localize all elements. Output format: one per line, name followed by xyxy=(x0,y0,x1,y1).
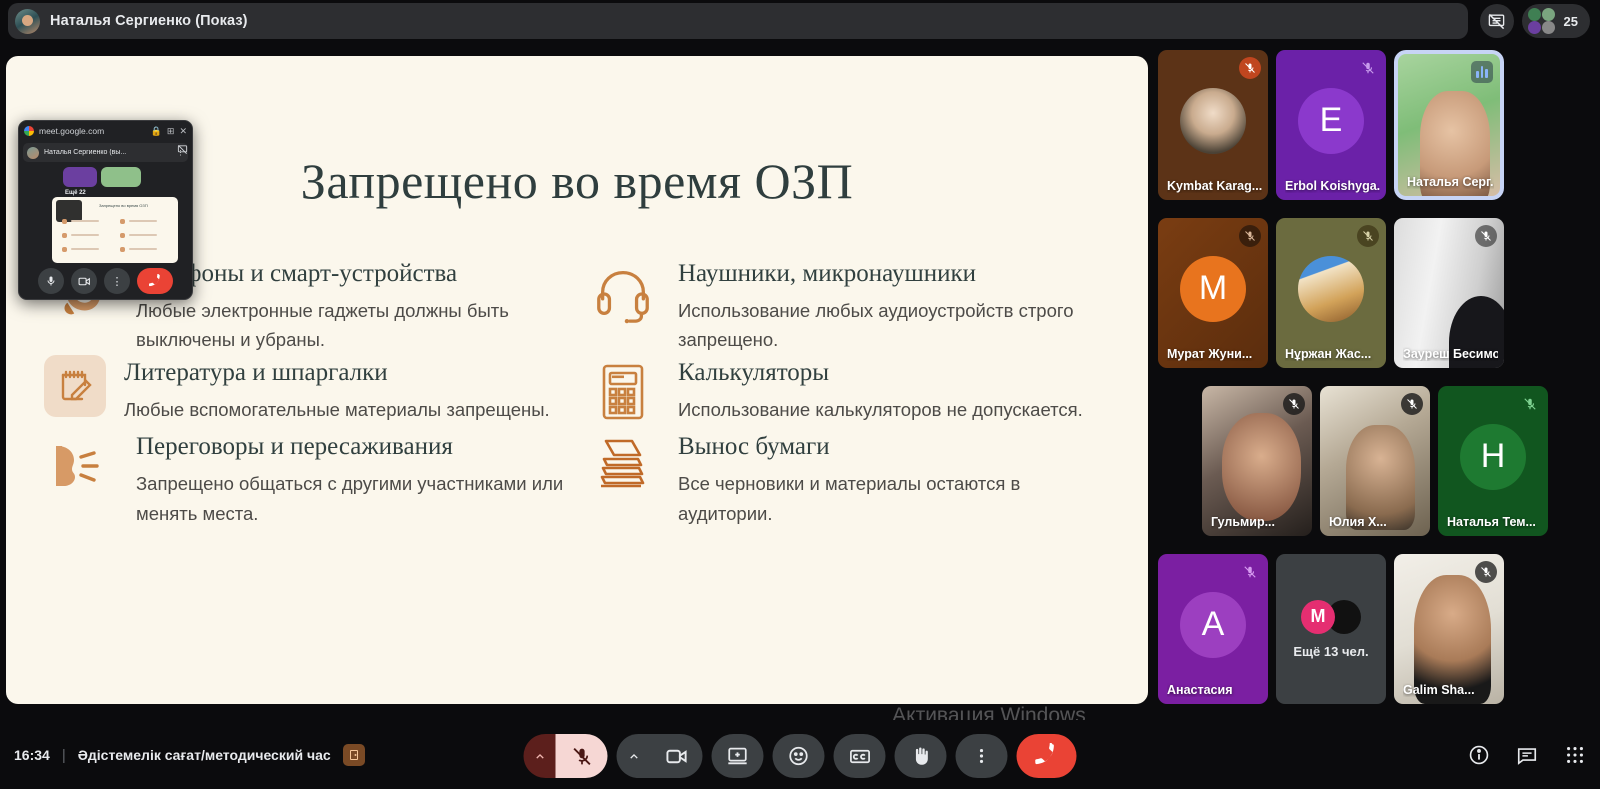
avatar xyxy=(1180,88,1246,154)
avatar-initial: E xyxy=(1298,88,1364,154)
meeting-badge-icon[interactable] xyxy=(343,744,365,766)
meeting-details-info-icon[interactable] xyxy=(1468,744,1490,766)
video-feed xyxy=(1222,413,1301,521)
participant-tile-kymbat[interactable]: Kymbat Karag... xyxy=(1158,50,1268,200)
pip-title-bar[interactable]: meet.google.com 🔒 ⊞ ✕ xyxy=(19,121,192,141)
end-call-icon[interactable] xyxy=(137,268,173,294)
captions[interactable] xyxy=(834,734,886,778)
participant-tile-gulmira[interactable]: Гульмир... xyxy=(1202,386,1312,536)
camera-icon[interactable] xyxy=(71,268,97,294)
presenter-avatar xyxy=(15,9,40,34)
mic-muted-icon xyxy=(1519,393,1541,415)
participant-name: Юлия Х... xyxy=(1329,515,1424,529)
top-bar: Наталья Сергиенко (Показ) 25 xyxy=(0,0,1600,42)
slide-item-text: Любые электронные гаджеты должны быть вы… xyxy=(136,296,564,356)
slide-item-heading: Вынос бумаги xyxy=(678,433,1108,461)
mic-muted-icon xyxy=(1357,225,1379,247)
slide-item-paper: Вынос бумаги Все черновики и материалы о… xyxy=(586,429,1108,528)
presenter-chip[interactable]: Наталья Сергиенко (Показ) xyxy=(8,3,1468,39)
bottom-right-actions xyxy=(1468,744,1586,766)
end-call[interactable] xyxy=(1017,734,1077,778)
participant-grid: Kymbat Karag... E Erbol Koishyga... Ната… xyxy=(1158,50,1600,720)
close-icon[interactable]: ✕ xyxy=(179,126,187,137)
mic-muted-icon xyxy=(1475,225,1497,247)
audio-waveform-icon xyxy=(1471,61,1493,83)
clock: 16:34 xyxy=(14,747,50,763)
raise-hand[interactable] xyxy=(895,734,947,778)
participant-tile-murat[interactable]: M Мурат Жуни... xyxy=(1158,218,1268,368)
participant-name: Galim Sha... xyxy=(1403,683,1498,697)
calculator-icon xyxy=(586,355,660,429)
participant-tile-zauresh[interactable]: Зауреш Бесимова xyxy=(1394,218,1504,368)
more-options[interactable] xyxy=(956,734,1008,778)
participant-name: Наталья Тем... xyxy=(1447,515,1542,529)
participant-row: A Анастасия M Ещё 13 чел. Galim Sha... xyxy=(1158,554,1600,704)
pip-controls: ⋮ xyxy=(19,268,192,294)
slide-item-heading: Переговоры и пересаживания xyxy=(136,433,564,461)
participant-row: Kymbat Karag... E Erbol Koishyga... Ната… xyxy=(1158,50,1600,200)
participant-tile-nurzhan[interactable]: Нұржан Жас... xyxy=(1276,218,1386,368)
bottom-bar: 16:34 | Әдістемелік сағат/методический ч… xyxy=(0,720,1600,789)
slide-item-heading: Литература и шпаргалки xyxy=(124,359,550,387)
lock-icon[interactable]: 🔒 xyxy=(151,126,162,137)
pip-more-caption: Ещё 22 xyxy=(65,190,86,196)
slide-item-text: Любые вспомогательные материалы запрещен… xyxy=(124,395,550,425)
meeting-name: Әдістемелік сағат/методический час xyxy=(78,747,331,763)
pip-tab-avatar xyxy=(27,147,39,159)
mic-muted-icon xyxy=(1239,561,1261,583)
avatar-initial: A xyxy=(1180,592,1246,658)
camera-toggle[interactable] xyxy=(651,734,703,778)
participant-avatars-icon xyxy=(1528,8,1558,34)
meeting-info-group: 16:34 | Әдістемелік сағат/методический ч… xyxy=(14,744,365,766)
participant-name: Гульмир... xyxy=(1211,515,1306,529)
picture-in-picture-icon[interactable]: ⊞ xyxy=(167,126,175,137)
notepad-pencil-icon xyxy=(44,355,106,417)
slide-item-literature: Литература и шпаргалки Любые вспомогател… xyxy=(44,355,564,429)
pip-slide-thumbnail xyxy=(56,200,82,222)
chat-bubble-icon[interactable] xyxy=(1516,744,1538,766)
pip-tab-label: Наталья Сергиенко (вы... xyxy=(44,149,172,156)
participant-name: Мурат Жуни... xyxy=(1167,347,1262,361)
pip-tab-row[interactable]: Наталья Сергиенко (вы... ⋮ xyxy=(23,143,188,162)
slide-item-calculator: Калькуляторы Использование калькуляторов… xyxy=(586,355,1108,429)
top-bar-actions: 25 xyxy=(1480,4,1590,38)
participant-tile-galim[interactable]: Galim Sha... xyxy=(1394,554,1504,704)
slide-item-heading: Калькуляторы xyxy=(678,359,1083,387)
mic-muted-icon xyxy=(1239,225,1261,247)
slide-title-rest: во время ОЗП xyxy=(551,153,853,209)
reactions[interactable] xyxy=(773,734,825,778)
participant-name: Kymbat Karag... xyxy=(1167,179,1262,193)
mic-control-group xyxy=(524,734,608,778)
separator: | xyxy=(62,747,66,764)
slide-items-grid: Телефоны и смарт-устройства Любые электр… xyxy=(44,256,1108,529)
mic-toggle[interactable] xyxy=(556,734,608,778)
paper-stack-icon xyxy=(586,429,660,503)
pip-participant-strip: Ещё 22 xyxy=(63,167,141,187)
more-participants-avatars: M xyxy=(1301,600,1361,634)
people-count: 25 xyxy=(1564,14,1578,29)
participant-tile-erbol[interactable]: E Erbol Koishyga... xyxy=(1276,50,1386,200)
more-vertical-icon[interactable]: ⋮ xyxy=(104,268,130,294)
more-participants-label: Ещё 13 чел. xyxy=(1293,644,1368,659)
avatar-initial: H xyxy=(1460,424,1526,490)
avatar xyxy=(1298,256,1364,322)
present-screen[interactable] xyxy=(712,734,764,778)
camera-control-group xyxy=(617,734,703,778)
participant-name: Нұржан Жас... xyxy=(1285,347,1380,361)
pip-stop-presenting-icon[interactable] xyxy=(177,144,188,155)
slide-item-text: Использование любых аудиоустройств строг… xyxy=(678,296,1108,356)
microphone-icon[interactable] xyxy=(38,268,64,294)
stop-presenting-icon[interactable] xyxy=(1480,4,1514,38)
slide-item-headset: Наушники, микронаушники Использование лю… xyxy=(586,256,1108,355)
mic-muted-icon xyxy=(1239,57,1261,79)
slide-item-heading: Телефоны и смарт-устройства xyxy=(136,260,564,288)
presenter-label: Наталья Сергиенко (Показ) xyxy=(50,13,248,29)
pip-tile-initial: Ещё 22 xyxy=(63,167,97,187)
slide-title-bold: Запрещено xyxy=(301,153,538,209)
mic-muted-icon xyxy=(1357,57,1379,79)
mic-options-chevron[interactable] xyxy=(524,734,556,778)
chrome-logo-icon xyxy=(24,126,34,136)
avatar-initial: M xyxy=(1180,256,1246,322)
slide-item-text: Использование калькуляторов не допускает… xyxy=(678,395,1083,425)
participant-tile-natalya-tem[interactable]: H Наталья Тем... xyxy=(1438,386,1548,536)
participant-name: Erbol Koishyga... xyxy=(1285,179,1380,193)
grid-apps-icon[interactable] xyxy=(1564,744,1586,766)
slide-item-text: Запрещено общаться с другими участниками… xyxy=(136,469,564,529)
speaking-head-icon xyxy=(44,429,118,503)
participant-tile-yulia[interactable]: Юлия Х... xyxy=(1320,386,1430,536)
camera-options-chevron[interactable] xyxy=(617,734,651,778)
pip-url: meet.google.com xyxy=(39,126,146,136)
slide-item-talking: Переговоры и пересаживания Запрещено общ… xyxy=(44,429,564,528)
participant-row: M Мурат Жуни... Нұржан Жас... Зауреш Бес… xyxy=(1158,218,1600,368)
pip-tile-speaker xyxy=(101,167,141,187)
participant-name: Зауреш Бесимова xyxy=(1403,347,1498,361)
mic-muted-icon xyxy=(1475,561,1497,583)
meeting-controls xyxy=(524,734,1077,778)
people-count-chip[interactable]: 25 xyxy=(1522,4,1590,38)
pip-shared-slide: Запрещено во время ОЗП xyxy=(52,197,178,263)
slide-item-heading: Наушники, микронаушники xyxy=(678,260,1108,288)
participant-row: Гульмир... Юлия Х... H Наталья Тем... xyxy=(1158,386,1600,536)
participant-tile-natalya-active-speaker[interactable]: Наталья Серг... xyxy=(1394,50,1504,200)
participant-name: Наталья Серг... xyxy=(1407,175,1494,189)
participant-name: Анастасия xyxy=(1167,683,1262,697)
pip-slide-title: Запрещено во время ОЗП xyxy=(99,203,148,208)
mic-muted-icon xyxy=(1283,393,1305,415)
google-meet-window: Наталья Сергиенко (Показ) 25 Запрещено в… xyxy=(0,0,1600,789)
picture-in-picture-window[interactable]: meet.google.com 🔒 ⊞ ✕ Наталья Сергиенко … xyxy=(18,120,193,300)
avatar-initial: M xyxy=(1301,600,1335,634)
headset-icon xyxy=(586,256,660,330)
slide-item-text: Все черновики и материалы остаются в ауд… xyxy=(678,469,1108,529)
participant-tile-anastasia[interactable]: A Анастасия xyxy=(1158,554,1268,704)
mic-muted-icon xyxy=(1401,393,1423,415)
more-participants-tile[interactable]: M Ещё 13 чел. xyxy=(1276,554,1386,704)
presentation-stage[interactable]: Запрещено во время ОЗП Телефоны и смарт-… xyxy=(6,56,1148,704)
